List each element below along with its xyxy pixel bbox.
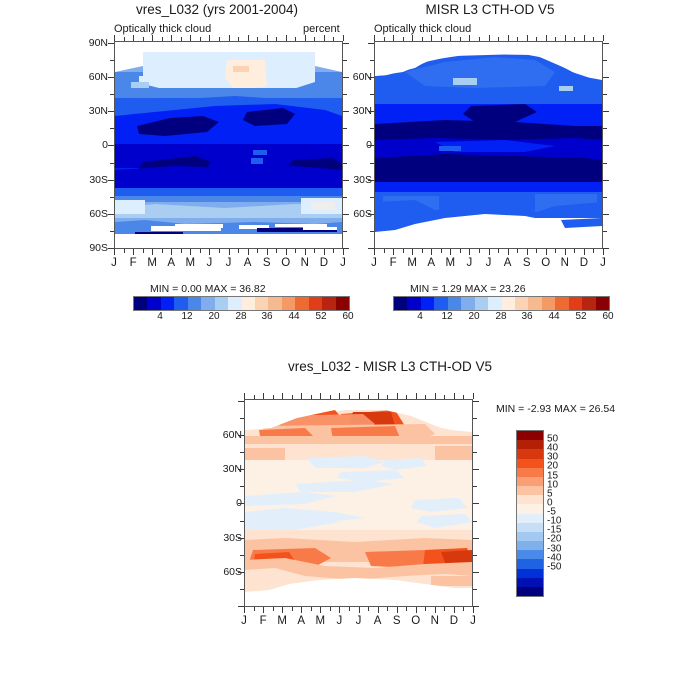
panel-diff-xtick <box>473 607 474 613</box>
panel-diff-xtick-minor-top <box>387 395 388 399</box>
panel-model-right-label: percent <box>303 23 340 35</box>
panel-model-ytick-minor <box>110 163 114 164</box>
colorbar-swatch <box>517 431 543 440</box>
panel-model-xtick <box>286 249 287 255</box>
panel-model-xtick-minor <box>257 249 258 253</box>
panel-diff-xtick-minor-top <box>311 395 312 399</box>
panel-diff-xlabel-5: J <box>337 615 343 627</box>
panel-diff-xlabel-6: J <box>356 615 362 627</box>
panel-model-xtick-top <box>133 35 134 41</box>
panel-model-xtick-minor <box>200 249 201 253</box>
panel-diff-xlabel-11: D <box>450 615 458 627</box>
panel-obs-xlabel-0: J <box>371 257 377 269</box>
panel-obs-xtick-top <box>546 35 547 41</box>
panel-obs-xtick-minor <box>574 249 575 253</box>
colorbar-swatch <box>517 559 543 568</box>
panel-obs-xtick <box>431 249 432 255</box>
panel-diff-xtick-top <box>378 393 379 399</box>
panel-obs-xtick-top <box>584 35 585 41</box>
panel-model-ytick-minor <box>110 94 114 95</box>
colorbar-swatch <box>517 459 543 468</box>
panel-model-xlabel-6: J <box>226 257 232 269</box>
panel-obs-ytick-minor <box>603 128 607 129</box>
panel-model-xtick-minor <box>295 249 296 253</box>
panel-diff-xlabel-8: S <box>393 615 401 627</box>
panel-model-ytick <box>108 77 114 78</box>
panel-obs-ytick-right <box>603 111 609 112</box>
panel-diff-xtick-top <box>454 393 455 399</box>
panel-model-ytick-minor <box>343 231 347 232</box>
panel-obs-xtick <box>450 249 451 255</box>
panel-model-xtick-top <box>190 35 191 41</box>
panel-obs-xlabel-3: A <box>427 257 435 269</box>
panel-diff-xtick-top <box>320 393 321 399</box>
panel-diff-xlabel-10: N <box>431 615 439 627</box>
colorbar-swatch <box>517 449 543 458</box>
panel-model-ytick <box>108 145 114 146</box>
panel-obs-xtick-top <box>603 35 604 41</box>
panel-obs-xtick-minor-top <box>536 37 537 41</box>
panel-diff-xtick-minor <box>406 607 407 611</box>
panel-obs-xtick <box>565 249 566 255</box>
panel-diff-xtick <box>244 607 245 613</box>
colorbar-swatch <box>517 514 543 523</box>
panel-obs-xtick-top <box>489 35 490 41</box>
panel-model-ylabel-0: 90N <box>74 37 108 49</box>
panel-obs-xlabel-11: D <box>580 257 588 269</box>
panel-obs-ytick-minor <box>370 60 374 61</box>
panel-obs-xtick <box>469 249 470 255</box>
panel-model-xlabel-7: A <box>244 257 252 269</box>
panel-diff-xtick-minor <box>292 607 293 611</box>
panel-obs-xtick-top <box>374 35 375 41</box>
panel-obs-xtick-minor-top <box>517 37 518 41</box>
panel-obs-left-label: Optically thick cloud <box>374 23 471 35</box>
panel-diff-ytick-right <box>473 538 479 539</box>
panel-model-xtick-top <box>171 35 172 41</box>
panel-obs-xtick-top <box>412 35 413 41</box>
panel-diff-xtick-top <box>282 393 283 399</box>
colorbar-swatch <box>161 297 174 310</box>
panel-diff-ytick-minor <box>240 589 244 590</box>
panel-obs-ytick-minor <box>370 94 374 95</box>
panel-model-ytick-minor <box>110 128 114 129</box>
panel-diff-xtick-top <box>244 393 245 399</box>
colorbar-swatch <box>461 297 474 310</box>
panel-model-xtick <box>171 249 172 255</box>
colorbar-swatch <box>295 297 308 310</box>
panel-diff-colorbar[interactable] <box>516 430 544 597</box>
colorbar-swatch <box>517 578 543 587</box>
panel-diff-xtick-minor <box>254 607 255 611</box>
panel-diff-xtick-minor <box>444 607 445 611</box>
panel-model-xtick <box>133 249 134 255</box>
panel-diff-xtick-minor-top <box>254 395 255 399</box>
panel-diff-xtick-minor <box>368 607 369 611</box>
panel-model-xlabel-11: D <box>320 257 328 269</box>
panel-model-xlabel-10: N <box>301 257 309 269</box>
panel-model-ylabel-1: 60N <box>74 71 108 83</box>
panel-obs-xlabel-7: A <box>504 257 512 269</box>
panel-model-xlabel-1: F <box>130 257 137 269</box>
panel-diff-xtick-minor-top <box>425 395 426 399</box>
colorbar-swatch <box>228 297 241 310</box>
panel-model-xlabel-12: J <box>340 257 346 269</box>
panel-diff-ytick-right <box>473 572 479 573</box>
colorbar-swatch <box>517 523 543 532</box>
panel-obs-xlabel-8: S <box>523 257 531 269</box>
panel-diff-ytick-minor <box>473 521 477 522</box>
panel-obs-xtick-minor <box>403 249 404 253</box>
panel-obs-ytick-minor <box>603 163 607 164</box>
panel-obs-xtick <box>546 249 547 255</box>
panel-model-xtick-minor-top <box>276 37 277 41</box>
panel-diff-xtick <box>263 607 264 613</box>
panel-model-title: vres_L032 (yrs 2001-2004) <box>92 2 342 17</box>
colorbar-swatch <box>528 297 541 310</box>
panel-obs-xtick-minor-top <box>384 37 385 41</box>
panel-obs-xtick-minor <box>555 249 556 253</box>
panel-diff-ytick-minor <box>240 418 244 419</box>
panel-obs-ytick <box>368 214 374 215</box>
panel-model-ylabel-5: 60S <box>74 208 108 220</box>
panel-diff-ytick-right <box>473 401 479 402</box>
panel-model-xtick <box>248 249 249 255</box>
colorbar-label: 28 <box>235 311 246 322</box>
colorbar-swatch <box>215 297 228 310</box>
panel-obs-xtick-minor <box>460 249 461 253</box>
panel-obs-xtick-top <box>527 35 528 41</box>
panel-model-ytick-minor <box>343 60 347 61</box>
colorbar-swatch <box>502 297 515 310</box>
panel-diff-xlabel-2: M <box>277 615 287 627</box>
panel-diff-xtick-top <box>397 393 398 399</box>
panel-diff-xlabel-7: A <box>374 615 382 627</box>
panel-obs-xtick-top <box>565 35 566 41</box>
panel-diff-ytick <box>238 572 244 573</box>
panel-diff-ytick <box>238 401 244 402</box>
colorbar-label: 20 <box>468 311 479 322</box>
panel-diff-xlabel-9: O <box>411 615 420 627</box>
panel-diff-xtick-minor <box>349 607 350 611</box>
panel-obs-xtick-minor <box>593 249 594 253</box>
panel-obs-minmax: MIN = 1.29 MAX = 23.26 <box>410 283 526 295</box>
panel-diff-xtick-top <box>416 393 417 399</box>
panel-model-xlabel-8: S <box>263 257 271 269</box>
panel-obs-xtick-minor <box>498 249 499 253</box>
panel-diff-ytick-minor <box>473 486 477 487</box>
colorbar-label: 4 <box>417 311 423 322</box>
colorbar-label: 60 <box>602 311 613 322</box>
panel-obs-xtick <box>584 249 585 255</box>
panel-obs-xtick-minor-top <box>403 37 404 41</box>
panel-diff-xtick-minor <box>330 607 331 611</box>
panel-model-xtick-minor-top <box>219 37 220 41</box>
colorbar-swatch <box>255 297 268 310</box>
panel-obs-xtick-minor <box>536 249 537 253</box>
colorbar-swatch <box>542 297 555 310</box>
panel-diff-contour <box>245 400 472 606</box>
panel-model-ytick-minor <box>343 128 347 129</box>
panel-model-ytick-right <box>343 43 349 44</box>
panel-obs-ytick-minor <box>603 197 607 198</box>
panel-obs-xtick <box>374 249 375 255</box>
panel-model-ytick <box>108 111 114 112</box>
panel-model-ytick-minor <box>110 197 114 198</box>
panel-diff-xtick-top <box>301 393 302 399</box>
colorbar-swatch <box>282 297 295 310</box>
panel-diff-xtick <box>282 607 283 613</box>
panel-diff-xlabel-3: A <box>297 615 305 627</box>
panel-obs-xtick-minor-top <box>441 37 442 41</box>
panel-model-ytick-minor <box>343 197 347 198</box>
panel-model-colorbar[interactable] <box>133 296 350 311</box>
panel-model-ytick <box>108 43 114 44</box>
colorbar-swatch <box>242 297 255 310</box>
panel-obs-xtick-minor <box>422 249 423 253</box>
colorbar-swatch <box>517 541 543 550</box>
panel-obs-xtick-minor <box>384 249 385 253</box>
panel-diff-xlabel-1: F <box>260 615 267 627</box>
colorbar-swatch <box>517 532 543 541</box>
panel-obs-xtick-top <box>450 35 451 41</box>
panel-diff-xtick <box>359 607 360 613</box>
colorbar-swatch <box>475 297 488 310</box>
panel-model-xtick-top <box>209 35 210 41</box>
panel-obs-title: MISR L3 CTH-OD V5 <box>370 2 610 17</box>
panel-model-xtick-minor-top <box>314 37 315 41</box>
panel-obs-xlabel-2: M <box>407 257 417 269</box>
panel-diff-ytick <box>238 538 244 539</box>
panel-obs-xtick-minor-top <box>460 37 461 41</box>
colorbar-swatch <box>488 297 501 310</box>
panel-model-ylabel-2: 30N <box>74 105 108 117</box>
panel-model-minmax: MIN = 0.00 MAX = 36.82 <box>150 283 266 295</box>
panel-diff-ytick-right <box>473 469 479 470</box>
colorbar-label: 12 <box>441 311 452 322</box>
panel-diff-ytick <box>238 503 244 504</box>
panel-diff-ytick-minor <box>473 589 477 590</box>
panel-obs-xlabel-9: O <box>541 257 550 269</box>
colorbar-label: 36 <box>521 311 532 322</box>
colorbar-swatch <box>515 297 528 310</box>
colorbar-swatch <box>517 477 543 486</box>
colorbar-swatch <box>517 587 543 596</box>
panel-diff-ytick-minor <box>240 452 244 453</box>
panel-diff-plot[interactable] <box>244 399 473 607</box>
colorbar-swatch <box>569 297 582 310</box>
panel-obs-xtick <box>393 249 394 255</box>
panel-diff-xtick-top <box>339 393 340 399</box>
panel-obs-xtick <box>603 249 604 255</box>
colorbar-swatch <box>517 504 543 513</box>
panel-obs-ytick-right <box>603 145 609 146</box>
panel-diff-xtick-minor-top <box>463 395 464 399</box>
panel-model-contour <box>115 42 342 248</box>
panel-obs-ytick-minor <box>603 94 607 95</box>
colorbar-swatch <box>517 550 543 559</box>
panel-obs-ytick-right <box>603 43 609 44</box>
colorbar-swatch <box>555 297 568 310</box>
panel-diff-xtick-top <box>263 393 264 399</box>
colorbar-label: 28 <box>495 311 506 322</box>
colorbar-swatch <box>336 297 349 310</box>
panel-obs-xtick-minor-top <box>574 37 575 41</box>
panel-diff-minmax: MIN = -2.93 MAX = 26.54 <box>496 403 615 415</box>
panel-model-xtick-minor-top <box>200 37 201 41</box>
panel-obs-xlabel-10: N <box>561 257 569 269</box>
panel-model-ytick-minor <box>343 94 347 95</box>
panel-obs-xtick-top <box>393 35 394 41</box>
colorbar-label: 52 <box>315 311 326 322</box>
panel-obs-ytick-minor <box>370 128 374 129</box>
panel-diff-xtick-minor <box>311 607 312 611</box>
panel-obs-plot[interactable] <box>374 41 603 249</box>
panel-model-xtick-top <box>248 35 249 41</box>
colorbar-label: 52 <box>575 311 586 322</box>
panel-model-ylabel-3: 0 <box>74 139 108 151</box>
panel-model-xtick <box>229 249 230 255</box>
panel-obs-ytick-minor <box>370 231 374 232</box>
panel-model-plot[interactable] <box>114 41 343 249</box>
panel-diff-xtick <box>435 607 436 613</box>
panel-diff-xtick-top <box>359 393 360 399</box>
panel-model-xtick <box>209 249 210 255</box>
panel-model-xlabel-5: J <box>207 257 213 269</box>
panel-model-xtick-minor <box>124 249 125 253</box>
panel-diff-title: vres_L032 - MISR L3 CTH-OD V5 <box>240 359 540 374</box>
panel-model-xtick-top <box>305 35 306 41</box>
panel-model-ytick-minor <box>110 60 114 61</box>
colorbar-label: 36 <box>261 311 272 322</box>
panel-model-ytick <box>108 214 114 215</box>
panel-obs-xtick-minor <box>517 249 518 253</box>
panel-diff-ytick-right <box>473 503 479 504</box>
colorbar-swatch <box>201 297 214 310</box>
panel-diff-xtick-minor-top <box>444 395 445 399</box>
panel-model-ytick-minor <box>110 231 114 232</box>
panel-diff-ytick-minor <box>240 486 244 487</box>
panel-diff-xtick <box>301 607 302 613</box>
colorbar-swatch <box>448 297 461 310</box>
panel-model-xtick-minor-top <box>124 37 125 41</box>
panel-diff-xtick-minor <box>425 607 426 611</box>
panel-model-xtick-minor <box>333 249 334 253</box>
panel-obs-colorbar[interactable] <box>393 296 610 311</box>
panel-diff-xtick-top <box>473 393 474 399</box>
panel-obs-xtick-minor-top <box>555 37 556 41</box>
colorbar-swatch <box>517 486 543 495</box>
panel-obs-xtick-minor <box>441 249 442 253</box>
panel-diff-xtick <box>416 607 417 613</box>
panel-model-xtick-minor-top <box>238 37 239 41</box>
panel-diff-xtick-minor-top <box>406 395 407 399</box>
panel-obs-xtick <box>527 249 528 255</box>
panel-model-xtick-top <box>267 35 268 41</box>
panel-model-xtick-top <box>229 35 230 41</box>
colorbar-swatch <box>268 297 281 310</box>
colorbar-swatch <box>322 297 335 310</box>
colorbar-label: 44 <box>548 311 559 322</box>
panel-diff-xtick-minor-top <box>368 395 369 399</box>
panel-diff-ytick-minor <box>240 555 244 556</box>
panel-obs-ytick-right <box>603 77 609 78</box>
colorbar-swatch <box>517 495 543 504</box>
panel-obs-ytick <box>368 77 374 78</box>
panel-obs-xtick-minor-top <box>593 37 594 41</box>
colorbar-swatch <box>134 297 147 310</box>
colorbar-label: 44 <box>288 311 299 322</box>
panel-diff-xtick <box>397 607 398 613</box>
panel-model-xlabel-3: A <box>167 257 175 269</box>
panel-obs-xtick-minor-top <box>422 37 423 41</box>
panel-obs-contour <box>375 42 602 248</box>
panel-obs-ytick-minor <box>370 197 374 198</box>
panel-model-xtick-top <box>324 35 325 41</box>
panel-obs-xlabel-5: J <box>467 257 473 269</box>
panel-diff-xtick <box>320 607 321 613</box>
panel-obs-ytick-minor <box>603 60 607 61</box>
colorbar-swatch <box>517 440 543 449</box>
panel-diff-ytick-right <box>473 435 479 436</box>
panel-model-xtick-minor-top <box>181 37 182 41</box>
panel-obs-xtick-top <box>431 35 432 41</box>
panel-diff-xlabel-12: J <box>470 615 476 627</box>
colorbar-swatch <box>147 297 160 310</box>
panel-model-ytick-minor <box>343 163 347 164</box>
panel-obs-xlabel-4: M <box>446 257 456 269</box>
colorbar-label: 20 <box>208 311 219 322</box>
panel-model-xtick-top <box>152 35 153 41</box>
panel-diff-xtick-minor-top <box>292 395 293 399</box>
panel-model-left-label: Optically thick cloud <box>114 23 211 35</box>
panel-model-xtick-minor <box>314 249 315 253</box>
panel-obs-xtick-minor-top <box>479 37 480 41</box>
panel-model-ytick <box>108 180 114 181</box>
panel-model-xlabel-4: M <box>186 257 196 269</box>
panel-model-xtick <box>343 249 344 255</box>
panel-diff-xtick <box>378 607 379 613</box>
panel-diff-xtick <box>339 607 340 613</box>
panel-model-xtick <box>324 249 325 255</box>
panel-diff-xtick <box>454 607 455 613</box>
colorbar-swatch <box>582 297 595 310</box>
colorbar-swatch <box>596 297 609 310</box>
panel-obs-ytick <box>368 180 374 181</box>
panel-model-xtick <box>152 249 153 255</box>
colorbar-swatch <box>421 297 434 310</box>
panel-diff-xlabel-4: M <box>316 615 326 627</box>
panel-diff-xtick-minor <box>273 607 274 611</box>
colorbar-swatch <box>394 297 407 310</box>
colorbar-swatch <box>517 468 543 477</box>
panel-obs-xtick-minor-top <box>498 37 499 41</box>
panel-obs-xtick <box>412 249 413 255</box>
panel-model-xtick-minor-top <box>295 37 296 41</box>
panel-obs-ytick-minor <box>370 163 374 164</box>
panel-obs-xtick-top <box>508 35 509 41</box>
panel-model-xtick <box>114 249 115 255</box>
panel-diff-ytick-minor <box>240 521 244 522</box>
panel-diff-xtick-top <box>435 393 436 399</box>
panel-obs-ytick-right <box>603 180 609 181</box>
panel-diff-xtick-minor-top <box>349 395 350 399</box>
panel-model-xtick-minor-top <box>333 37 334 41</box>
panel-obs-ytick-right <box>603 214 609 215</box>
panel-model-xlabel-0: J <box>111 257 117 269</box>
panel-diff-ytick-minor <box>473 555 477 556</box>
panel-model-xtick <box>190 249 191 255</box>
